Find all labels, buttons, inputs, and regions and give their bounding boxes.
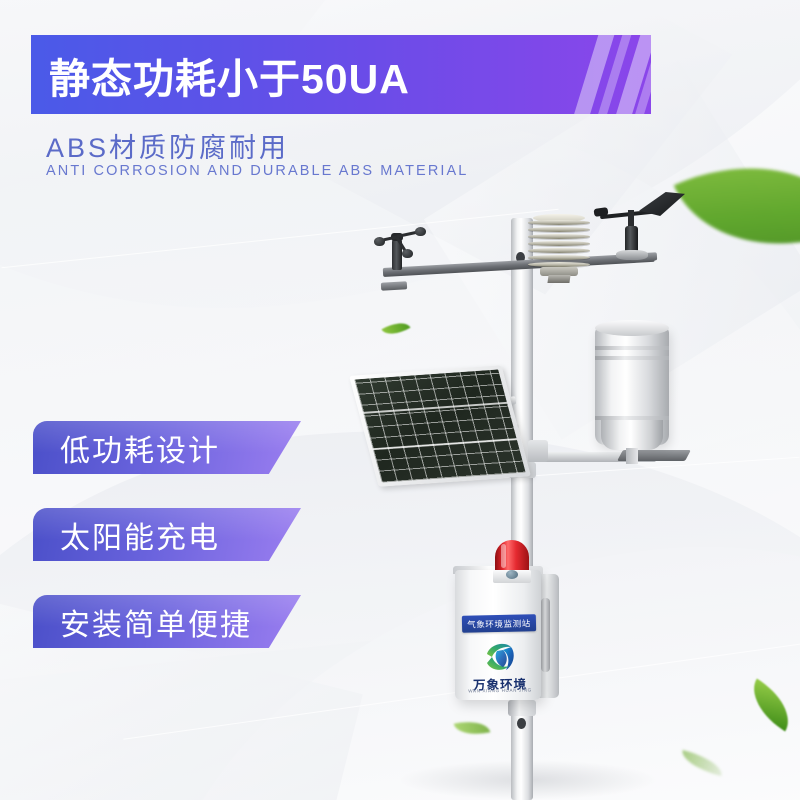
rain-gauge-foot (626, 448, 638, 464)
radiation-shield-plate (528, 248, 590, 253)
rain-gauge-brace (528, 440, 548, 462)
radiation-shield-foot (547, 275, 570, 283)
radiation-shield-plate (528, 255, 590, 260)
control-box-hinge (541, 598, 550, 672)
anemometer-cup-2 (374, 237, 385, 246)
brand-globe-logo-icon (483, 640, 517, 674)
rain-gauge-funnel (595, 320, 669, 336)
mast-collar-lower (508, 700, 536, 716)
weather-station-product: 气象环境监测站 (0, 0, 800, 800)
radiation-shield-plate (528, 227, 590, 232)
rain-gauge-skirt (601, 420, 663, 450)
product-banner-stage: 静态功耗小于50UA ABS材质防腐耐用 ANTI CORROSION AND … (0, 0, 800, 800)
solar-panel-frame (349, 365, 531, 486)
radiation-shield (528, 217, 590, 269)
anemometer-cup-1 (415, 227, 426, 236)
radiation-shield-plate (528, 220, 590, 225)
device-label-text: 气象环境监测站 (467, 617, 531, 630)
anemometer-cup-3 (402, 249, 413, 258)
rain-gauge-ring-2 (595, 356, 669, 360)
alarm-beacon-indicator (506, 570, 518, 579)
radiation-shield-plate (528, 234, 590, 239)
alarm-beacon-highlight (501, 544, 506, 568)
solar-panel-cells (354, 369, 525, 482)
wind-vane-fin (639, 192, 685, 216)
cross-arm-end-left (381, 281, 407, 290)
mast-port-lower (517, 718, 526, 729)
rain-gauge-ring-1 (595, 346, 669, 350)
device-label-plate: 气象环境监测站 (462, 614, 536, 633)
radiation-shield-plate (528, 241, 590, 246)
wind-vane-mount (616, 250, 648, 260)
solar-panel-body (349, 365, 531, 486)
